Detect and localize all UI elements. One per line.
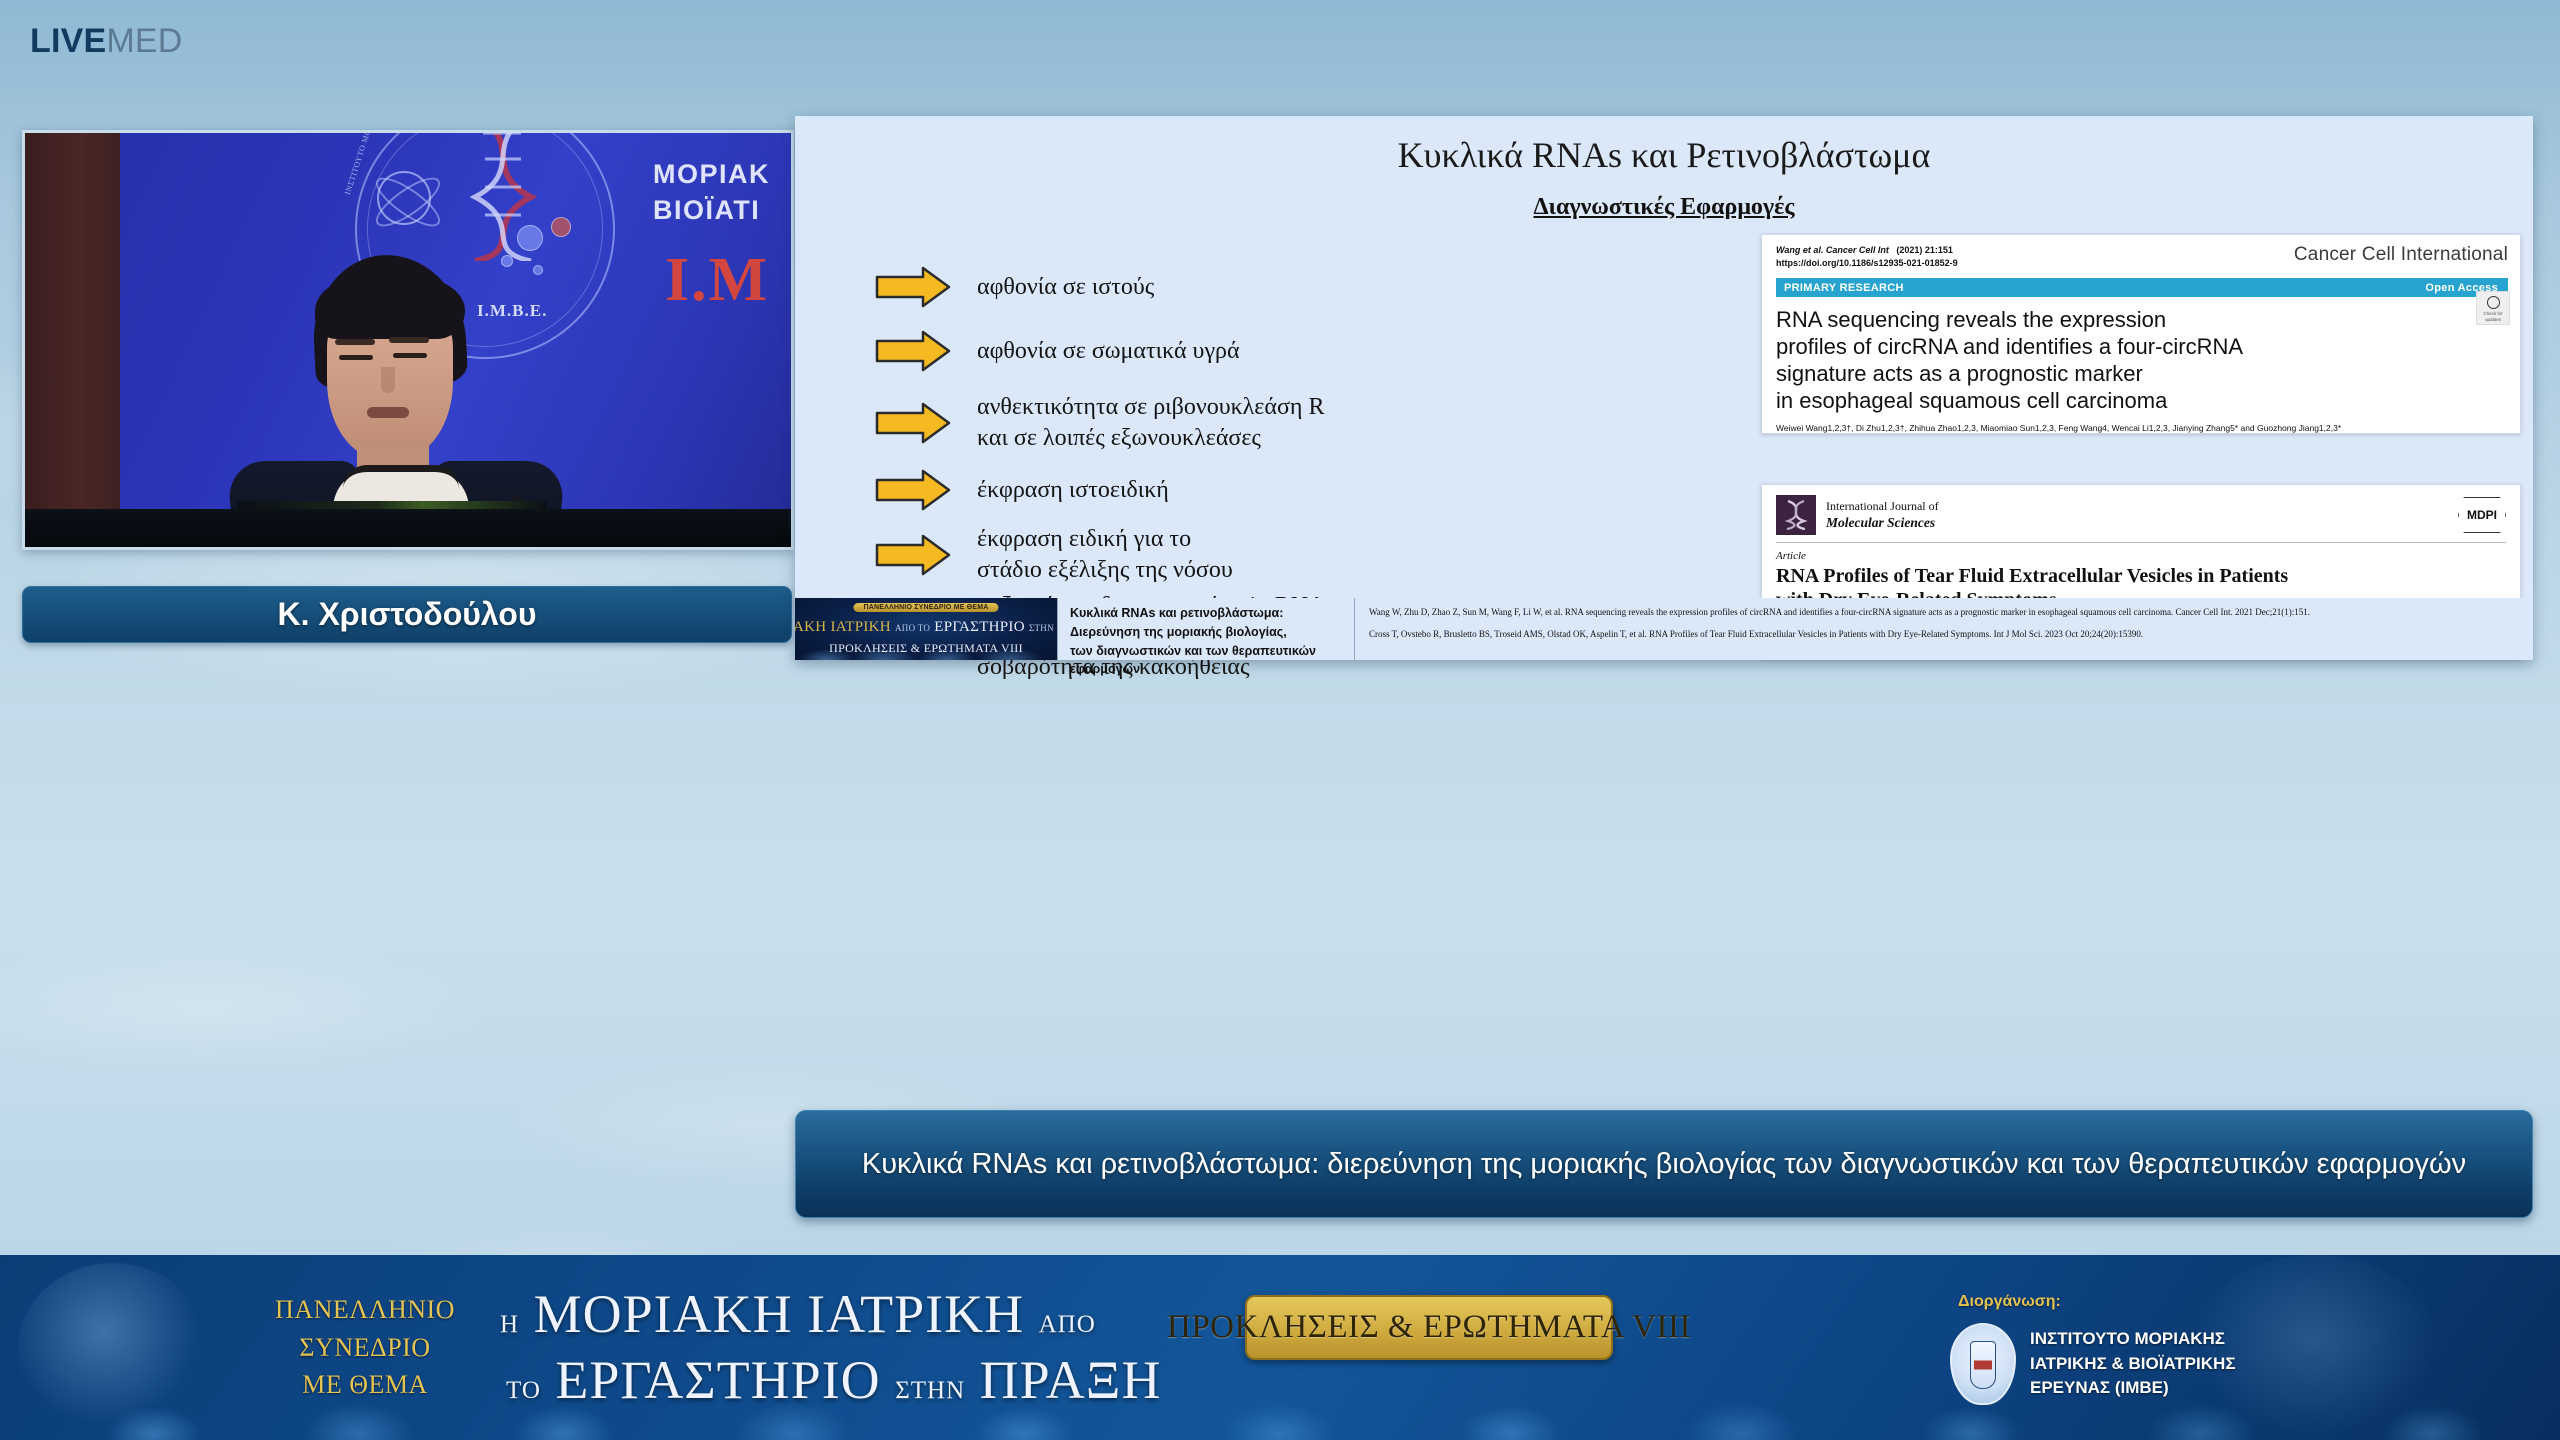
backdrop-title-line2: ΒΙΟΪΑΤΙ: [653, 195, 760, 226]
conference-logo-l1-d: ΕΡΓΑΣΤΗΡΙΟ: [934, 619, 1025, 635]
list-item: ανθεκτικότητα σε ριβονουκλεάση R και σε …: [875, 392, 1324, 453]
list-item-label: έκφραση ειδική για το στάδιο εξέλιξης τη…: [977, 524, 1233, 585]
paper-thumbnail-cancer-cell-international[interactable]: Wang et al. Cancer Cell Int (2021) 21:15…: [1761, 234, 2521, 434]
organizer-block: ΙΝΣΤΙΤΟΥΤΟ ΜΟΡΙΑΚΗΣ ΙΑΤΡΙΚΗΣ & ΒΙΟΪΑΤΡΙΚ…: [1950, 1323, 2236, 1405]
video-stage: ΙΝΣΤΙΤΟΥΤΟ ΜΟΡΙΑΚΗΣ ΙΑ Ι.Μ.Β.Ε. ΜΟΡΙΑΚ Β…: [25, 133, 791, 547]
list-item: έκφραση ειδική για το στάδιο εξέλιξης τη…: [875, 524, 1233, 585]
paper2-divider: [1776, 542, 2506, 543]
paper1-title: RNA sequencing reveals the expression pr…: [1776, 307, 2458, 414]
speaker-name: Κ. Χριστοδούλου: [278, 596, 537, 633]
imbe-logo-icon: [1950, 1323, 2016, 1405]
livemed-logo[interactable]: LIVEMED: [30, 24, 183, 58]
banner-title-row2: ΤΟ ΕΡΓΑΣΤΗΡΙΟ ΣΤΗΝ ΠΡΑΞΗ: [500, 1349, 1190, 1411]
mdpi-logo-text: MDPI: [2467, 508, 2497, 522]
speaker-name-plate: Κ. Χριστοδούλου: [22, 586, 792, 643]
presentation-slide[interactable]: Κυκλικά RNAs και Ρετινοβλάστωμα Διαγνωστ…: [795, 116, 2533, 660]
paper1-journal-name: Cancer Cell International: [2294, 244, 2508, 266]
conference-logo-l1-e: ΣΤΗΝ: [1029, 623, 1054, 633]
list-item-label: ανθεκτικότητα σε ριβονουκλεάση R και σε …: [977, 392, 1324, 453]
slide-title: Κυκλικά RNAs και Ρετινοβλάστωμα: [795, 134, 2533, 176]
atom-icon: [377, 171, 431, 225]
list-item: έκφραση ιστοειδική: [875, 469, 1169, 511]
check-for-updates-icon: Check for updates: [2476, 291, 2510, 325]
podium: [25, 509, 791, 547]
paper1-authors: Weiwei Wang1,2,3†, Di Zhu1,2,3†, Zhihua …: [1776, 422, 2508, 434]
conference-logo-l1-b: ΜΟΡΙΑΚΗ ΙΑΤΡΙΚΗ: [795, 619, 891, 635]
banner-row2-b: ΣΤΗΝ: [895, 1377, 965, 1404]
talk-title-caption: Κυκλικά RNAs και ρετινοβλάστωμα: διερεύν…: [795, 1110, 2533, 1218]
banner-row1-a: Η: [500, 1311, 519, 1338]
arrow-right-icon: [875, 534, 951, 576]
conference-logo-thumbnail: ΠΑΝΕΛΛΗΝΙΟ ΣΥΝΕΔΡΙΟ ΜΕ ΘΕΜΑ Η ΜΟΡΙΑΚΗ ΙΑ…: [795, 598, 1057, 660]
check-for-updates-label: Check for updates: [2477, 311, 2509, 322]
reference-1: Wang W, Zhu D, Zhao Z, Sun M, Wang F, Li…: [1369, 606, 2523, 619]
banner-row2-big: ΕΡΓΑΣΤΗΡΙΟ: [555, 1350, 880, 1410]
paper2-journal-block: International Journal of Molecular Scien…: [1776, 495, 1939, 535]
talk-title-text: Κυκλικά RNAs και ρετινοβλάστωμα: διερεύν…: [862, 1143, 2466, 1185]
paper2-journal-name: International Journal of Molecular Scien…: [1826, 498, 1939, 532]
slide-footer-topic: Κυκλικά RNAs και ρετινοβλάστωμα: Διερεύν…: [1057, 598, 1355, 660]
arrow-right-icon: [875, 469, 951, 511]
organizer-name: ΙΝΣΤΙΤΟΥΤΟ ΜΟΡΙΑΚΗΣ ΙΑΤΡΙΚΗΣ & ΒΙΟΪΑΤΡΙΚ…: [2030, 1327, 2236, 1401]
banner-row1-b: ΑΠΟ: [1039, 1311, 1096, 1338]
paper2-journal-line1: International Journal of: [1826, 498, 1939, 514]
banner-row1-big: ΜΟΡΙΑΚΗ ΙΑΤΡΙΚΗ: [534, 1284, 1025, 1344]
mdpi-logo: MDPI: [2458, 497, 2506, 533]
banner-title-row1: Η ΜΟΡΙΑΚΗ ΙΑΤΡΙΚΗ ΑΠΟ: [500, 1283, 1190, 1345]
video-player[interactable]: ΙΝΣΤΙΤΟΥΤΟ ΜΟΡΙΑΚΗΣ ΙΑ Ι.Μ.Β.Ε. ΜΟΡΙΑΚ Β…: [22, 130, 794, 550]
paper1-section-label: PRIMARY RESEARCH: [1784, 282, 1904, 294]
paper1-section-bar: PRIMARY RESEARCH Open Access: [1776, 278, 2508, 297]
logo-live-text: LIVE: [30, 22, 106, 60]
backdrop-title-line1: ΜΟΡΙΑΚ: [653, 159, 770, 190]
banner-subtitle: ΠΑΝΕΛΛΗΝΙΟ ΣΥΝΕΔΡΙΟ ΜΕ ΘΕΜΑ: [245, 1291, 485, 1404]
banner-edition-text: ΠΡΟΚΛΗΣΕΙΣ & ΕΡΩΤΗΜΑΤΑ VIII: [1167, 1309, 1691, 1346]
banner-row2-big2: ΠΡΑΞΗ: [980, 1350, 1162, 1410]
reference-2: Cross T, Ovstebo R, Brusletto BS, Trosei…: [1369, 628, 2523, 641]
slide-footer-references: Wang W, Zhu D, Zhao Z, Sun M, Wang F, Li…: [1355, 598, 2533, 660]
list-item-label: έκφραση ιστοειδική: [977, 475, 1169, 506]
slide-footer: ΠΑΝΕΛΛΗΝΙΟ ΣΥΝΕΔΡΙΟ ΜΕ ΘΕΜΑ Η ΜΟΡΙΑΚΗ ΙΑ…: [795, 598, 2533, 660]
organizer-label: Διοργάνωση:: [1958, 1293, 2061, 1311]
paper1-meta-issue: (2021) 21:151: [1896, 245, 1953, 255]
paper2-article-type: Article: [1776, 550, 2506, 562]
banner-row2-a: ΤΟ: [506, 1377, 541, 1404]
conference-logo-pill: ΠΑΝΕΛΛΗΝΙΟ ΣΥΝΕΔΡΙΟ ΜΕ ΘΕΜΑ: [853, 603, 998, 612]
slide-subtitle: Διαγνωστικές Εφαρμογές: [795, 194, 2533, 221]
video-side-wall: [25, 133, 120, 547]
conference-banner: ΠΑΝΕΛΛΗΝΙΟ ΣΥΝΕΔΡΙΟ ΜΕ ΘΕΜΑ Η ΜΟΡΙΑΚΗ ΙΑ…: [0, 1255, 2560, 1440]
paper1-header: Wang et al. Cancer Cell Int (2021) 21:15…: [1762, 235, 2520, 270]
paper1-meta: Wang et al. Cancer Cell Int (2021) 21:15…: [1776, 244, 1958, 270]
conference-logo-line2: ΠΡΟΚΛΗΣΕΙΣ & ΕΡΩΤΗΜΑΤΑ VIII: [829, 641, 1023, 656]
slide-subtitle-text: Διαγνωστικές Εφαρμογές: [1533, 194, 1794, 220]
banner-edition-pill: ΠΡΟΚΛΗΣΕΙΣ & ΕΡΩΤΗΜΑΤΑ VIII: [1245, 1295, 1613, 1360]
banner-main-title: Η ΜΟΡΙΑΚΗ ΙΑΤΡΙΚΗ ΑΠΟ ΤΟ ΕΡΓΑΣΤΗΡΙΟ ΣΤΗΝ…: [500, 1283, 1190, 1411]
logo-med-text: MED: [106, 22, 182, 60]
list-item-label: αφθονία σε σωματικά υγρά: [977, 336, 1240, 367]
paper2-journal-line2: Molecular Sciences: [1826, 515, 1935, 530]
paper2-header: International Journal of Molecular Scien…: [1762, 485, 2520, 535]
list-item: αφθονία σε σωματικά υγρά: [875, 330, 1240, 372]
conference-logo-l1-c: ΑΠΟ ΤΟ: [895, 623, 930, 633]
paper1-doi: https://doi.org/10.1186/s12935-021-01852…: [1776, 257, 1958, 270]
backdrop-accent-text: Ι.Μ: [665, 245, 769, 316]
arrow-right-icon: [875, 266, 951, 308]
list-item: αφθονία σε ιστούς: [875, 266, 1154, 308]
paper1-meta-citation: Wang et al. Cancer Cell Int: [1776, 245, 1889, 255]
ijms-dna-logo-icon: [1776, 495, 1816, 535]
arrow-right-icon: [875, 330, 951, 372]
arrow-right-icon: [875, 402, 951, 444]
list-item-label: αφθονία σε ιστούς: [977, 272, 1154, 303]
